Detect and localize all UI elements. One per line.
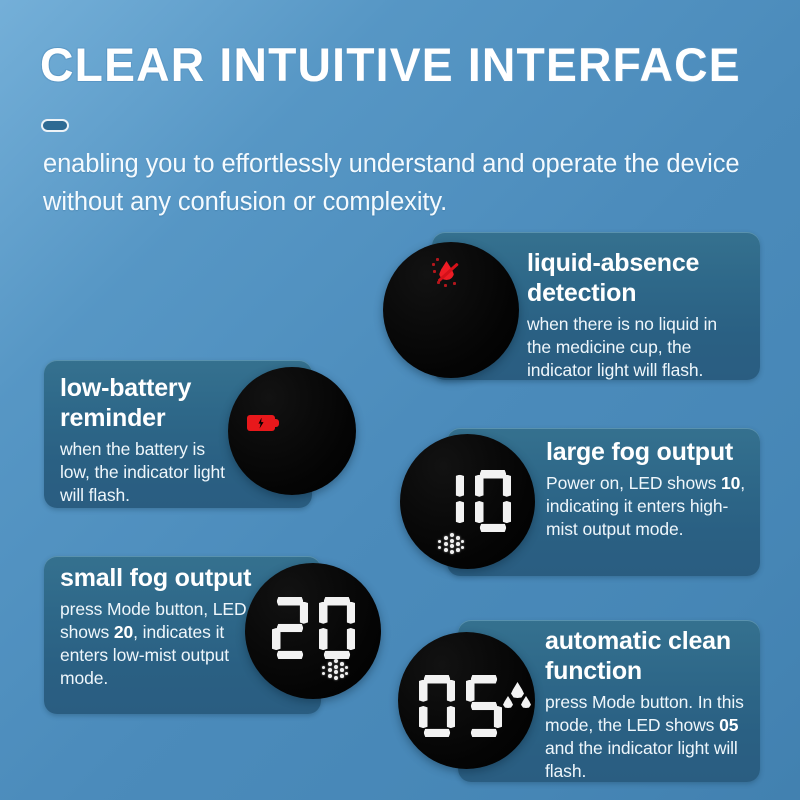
card-description-low-battery: when the battery is low, the indicator l… bbox=[60, 438, 232, 507]
led-digit bbox=[428, 470, 464, 532]
led-display-automatic-clean bbox=[419, 675, 502, 737]
no-liquid-drop-icon bbox=[431, 256, 463, 288]
low-battery-icon bbox=[247, 415, 281, 431]
indicator-circle-automatic-clean bbox=[398, 632, 535, 769]
card-text-automatic-clean: automatic clean function press Mode butt… bbox=[545, 626, 753, 783]
capsule-pill-icon bbox=[41, 119, 69, 132]
indicator-circle-low-battery bbox=[228, 367, 356, 495]
led-digit bbox=[475, 470, 511, 532]
mist-spray-icon bbox=[321, 659, 347, 679]
card-text-liquid-absence: liquid-absence detection when there is n… bbox=[527, 248, 739, 382]
page-subtitle: enabling you to effortlessly understand … bbox=[43, 145, 743, 221]
led-display-small-fog bbox=[272, 597, 355, 659]
card-text-small-fog: small fog output press Mode button, LED … bbox=[60, 563, 260, 690]
card-title-liquid-absence: liquid-absence detection bbox=[527, 248, 739, 308]
card-description-large-fog: Power on, LED shows 10, indicating it en… bbox=[546, 472, 746, 541]
clean-droplets-icon bbox=[503, 682, 531, 710]
mist-spray-icon bbox=[437, 533, 463, 553]
card-title-large-fog: large fog output bbox=[546, 437, 746, 467]
led-digit bbox=[419, 675, 455, 737]
led-display-large-fog bbox=[428, 470, 511, 532]
card-title-low-battery: low-battery reminder bbox=[60, 373, 232, 433]
card-description-automatic-clean: press Mode button. In this mode, the LED… bbox=[545, 691, 753, 783]
card-text-low-battery: low-battery reminder when the battery is… bbox=[60, 373, 232, 507]
page-title: CLEAR INTUITIVE INTERFACE bbox=[40, 38, 759, 92]
card-title-small-fog: small fog output bbox=[60, 563, 260, 593]
card-title-automatic-clean: automatic clean function bbox=[545, 626, 753, 686]
led-digit bbox=[319, 597, 355, 659]
led-digit bbox=[466, 675, 502, 737]
card-description-liquid-absence: when there is no liquid in the medicine … bbox=[527, 313, 739, 382]
led-digit bbox=[272, 597, 308, 659]
indicator-circle-liquid-absence bbox=[383, 242, 519, 378]
indicator-circle-small-fog bbox=[245, 563, 381, 699]
card-description-small-fog: press Mode button, LED shows 20, indicat… bbox=[60, 598, 260, 690]
card-text-large-fog: large fog output Power on, LED shows 10,… bbox=[546, 437, 746, 541]
indicator-circle-large-fog bbox=[400, 434, 535, 569]
